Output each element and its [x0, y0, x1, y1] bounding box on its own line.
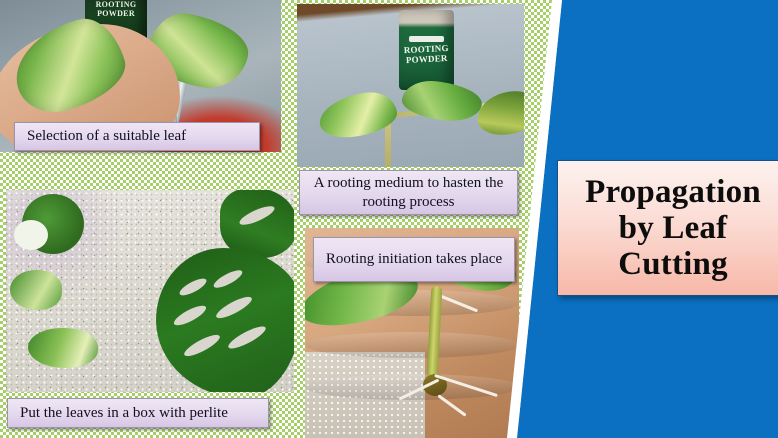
- finger-3: [305, 332, 519, 358]
- page-title: Propagation by Leaf Cutting: [558, 174, 778, 282]
- caption-leaf-selection: Selection of a suitable leaf: [14, 122, 260, 151]
- caption-text: Put the leaves in a box with perlite: [20, 404, 228, 423]
- caption-text: A rooting medium to hasten the rooting p…: [308, 174, 509, 212]
- caption-rooting-medium: A rooting medium to hasten the rooting p…: [299, 170, 518, 215]
- caption-text: Rooting initiation takes place: [326, 250, 502, 269]
- finger-4: [305, 374, 519, 400]
- cutting-bottom-left: [28, 328, 98, 368]
- caption-text: Selection of a suitable leaf: [27, 127, 186, 146]
- slide-canvas: ROOTING POWDER ROOTING POWDER: [0, 0, 778, 438]
- rooting-powder-jar: ROOTING POWDER: [399, 10, 454, 90]
- cutting-top-left: [22, 194, 84, 254]
- photo-perlite-box: [6, 190, 294, 392]
- caption-rooting-initiation: Rooting initiation takes place: [313, 237, 515, 282]
- leaf-center: [400, 78, 484, 124]
- cutting-middle-left: [10, 270, 62, 310]
- title-plate: Propagation by Leaf Cutting: [557, 160, 778, 296]
- monstera-leaf-large: [156, 248, 294, 392]
- jar-label-text: ROOTING POWDER: [402, 43, 452, 66]
- caption-perlite: Put the leaves in a box with perlite: [7, 398, 269, 428]
- jar-band: [409, 36, 444, 42]
- leaf-right: [473, 86, 524, 140]
- photo-rooting-medium: ROOTING POWDER: [297, 4, 524, 167]
